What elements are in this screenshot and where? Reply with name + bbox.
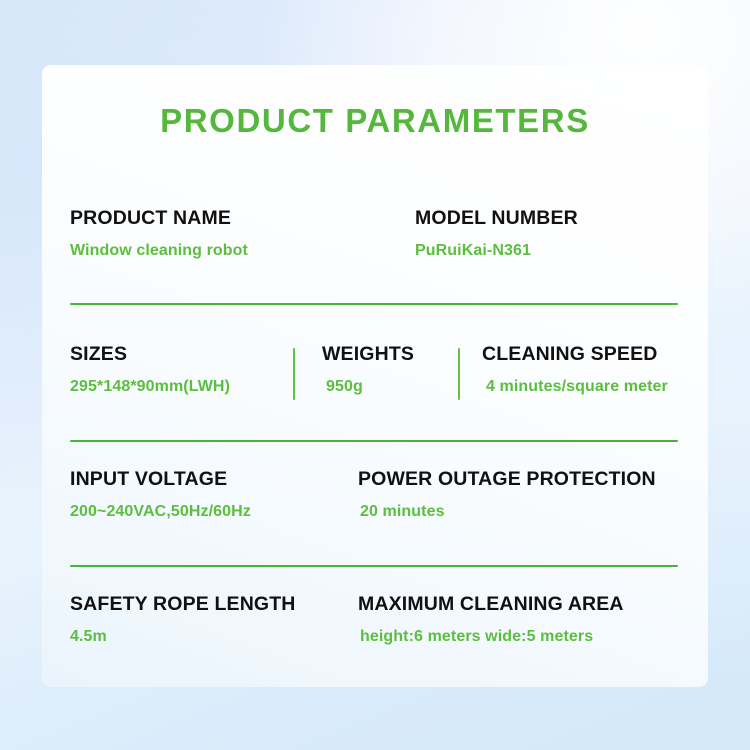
table-row: INPUT VOLTAGE 200~240VAC,50Hz/60Hz POWER…	[70, 468, 680, 522]
parameter-value: 20 minutes	[360, 503, 680, 521]
parameter-label: SIZES	[70, 343, 308, 365]
parameter-cell-cleaning-speed: CLEANING SPEED 4 minutes/square meter	[468, 343, 680, 397]
row-divider	[70, 565, 678, 567]
column-divider	[293, 348, 295, 400]
parameter-cell-sizes: SIZES 295*148*90mm(LWH)	[70, 343, 308, 397]
parameter-value: PuRuiKai-N361	[415, 242, 680, 260]
parameter-cell-weights: WEIGHTS 950g	[308, 343, 468, 397]
table-row: PRODUCT NAME Window cleaning robot MODEL…	[70, 207, 680, 261]
parameter-cell-maximum-cleaning-area: MAXIMUM CLEANING AREA height:6 meters wi…	[358, 593, 680, 647]
parameter-label: WEIGHTS	[322, 343, 468, 365]
row-divider	[70, 440, 678, 442]
parameter-label: MODEL NUMBER	[415, 207, 680, 229]
column-divider	[458, 348, 460, 400]
parameter-value: 4.5m	[70, 628, 358, 646]
parameter-cell-power-outage-protection: POWER OUTAGE PROTECTION 20 minutes	[358, 468, 680, 522]
row-divider	[70, 303, 678, 305]
parameter-cell-input-voltage: INPUT VOLTAGE 200~240VAC,50Hz/60Hz	[70, 468, 358, 522]
parameter-value: 295*148*90mm(LWH)	[70, 378, 308, 396]
parameter-cell-safety-rope-length: SAFETY ROPE LENGTH 4.5m	[70, 593, 358, 647]
parameter-label: SAFETY ROPE LENGTH	[70, 593, 358, 615]
parameter-value: 200~240VAC,50Hz/60Hz	[70, 503, 358, 521]
parameter-label: INPUT VOLTAGE	[70, 468, 358, 490]
parameter-label: POWER OUTAGE PROTECTION	[358, 468, 680, 490]
table-row: SIZES 295*148*90mm(LWH) WEIGHTS 950g CLE…	[70, 343, 680, 397]
page-background: PRODUCT PARAMETERS PRODUCT NAME Window c…	[0, 0, 750, 750]
parameter-label: MAXIMUM CLEANING AREA	[358, 593, 680, 615]
parameter-cell-product-name: PRODUCT NAME Window cleaning robot	[70, 207, 415, 261]
table-row: SAFETY ROPE LENGTH 4.5m MAXIMUM CLEANING…	[70, 593, 680, 647]
parameters-table: PRODUCT NAME Window cleaning robot MODEL…	[42, 65, 708, 687]
parameter-value: Window cleaning robot	[70, 242, 415, 260]
parameter-value: 4 minutes/square meter	[486, 378, 680, 396]
parameter-value: height:6 meters wide:5 meters	[360, 628, 680, 646]
parameter-label: PRODUCT NAME	[70, 207, 415, 229]
parameter-cell-model-number: MODEL NUMBER PuRuiKai-N361	[415, 207, 680, 261]
parameter-label: CLEANING SPEED	[482, 343, 680, 365]
product-parameters-card: PRODUCT PARAMETERS PRODUCT NAME Window c…	[42, 65, 708, 687]
parameter-value: 950g	[326, 378, 468, 396]
